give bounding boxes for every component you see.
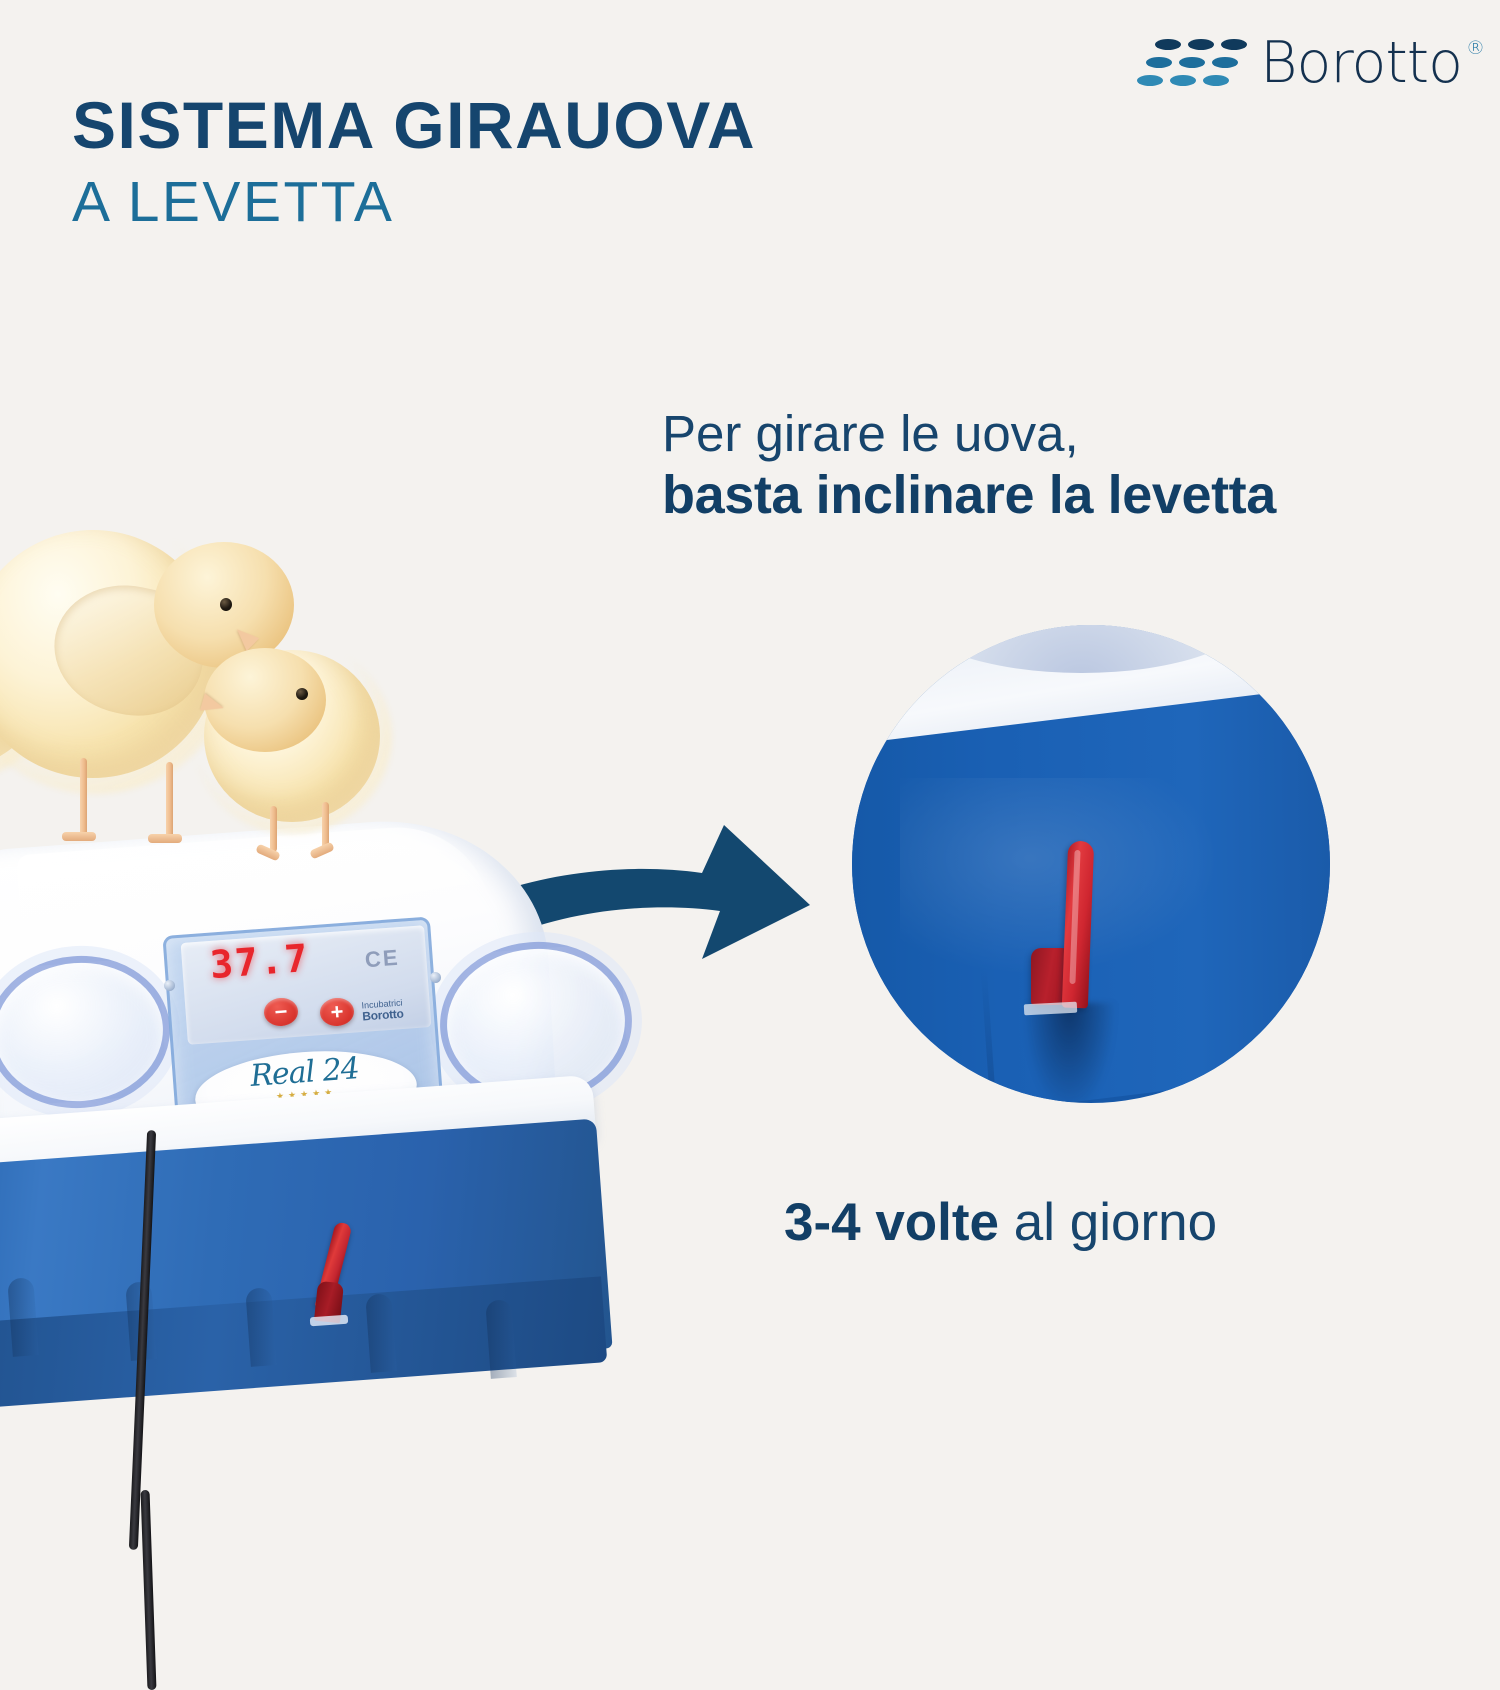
- base-foot: [527, 1358, 590, 1436]
- panel-brand-label: Incubatrici Borotto: [361, 999, 404, 1024]
- base-foot: [313, 1348, 376, 1426]
- poster-canvas: Borotto ® SISTEMA GIRAUOVA A LEVETTA Per…: [0, 0, 1500, 1500]
- callout-top-line-2: basta inclinare la levetta: [662, 464, 1452, 528]
- ce-mark: CE: [364, 945, 400, 973]
- callout-bottom-regular: al giorno: [999, 1193, 1217, 1252]
- baby-chicks-photo: [0, 500, 464, 880]
- incubator-photo: 37.7 CE − + Incubatrici Borotto Real 24 …: [0, 830, 800, 1470]
- brand-name: Borotto: [1260, 30, 1462, 96]
- model-badge-name: Real 24: [249, 1054, 359, 1092]
- power-cord-lower: [141, 1490, 157, 1690]
- headline-line-2: A LEVETTA: [72, 174, 756, 231]
- model-number: 24: [321, 1051, 360, 1089]
- registered-mark: ®: [1466, 40, 1484, 57]
- brand-wordmark: Borotto ®: [1260, 38, 1462, 89]
- base-foot: [0, 1332, 37, 1410]
- headline-line-1: SISTEMA GIRAUOVA: [72, 92, 756, 158]
- callout-top: Per girare le uova, basta inclinare la l…: [662, 404, 1452, 528]
- temperature-display: 37.7: [209, 938, 323, 984]
- borotto-egg-dots-logo-icon: [1155, 39, 1247, 89]
- callout-top-line-1: Per girare le uova,: [662, 404, 1452, 464]
- lever-drop-shadow: [1024, 1003, 1115, 1103]
- page-title: SISTEMA GIRAUOVA A LEVETTA: [72, 92, 756, 231]
- lever-slot: [1024, 1001, 1077, 1014]
- brand-logo: Borotto ®: [1155, 38, 1462, 89]
